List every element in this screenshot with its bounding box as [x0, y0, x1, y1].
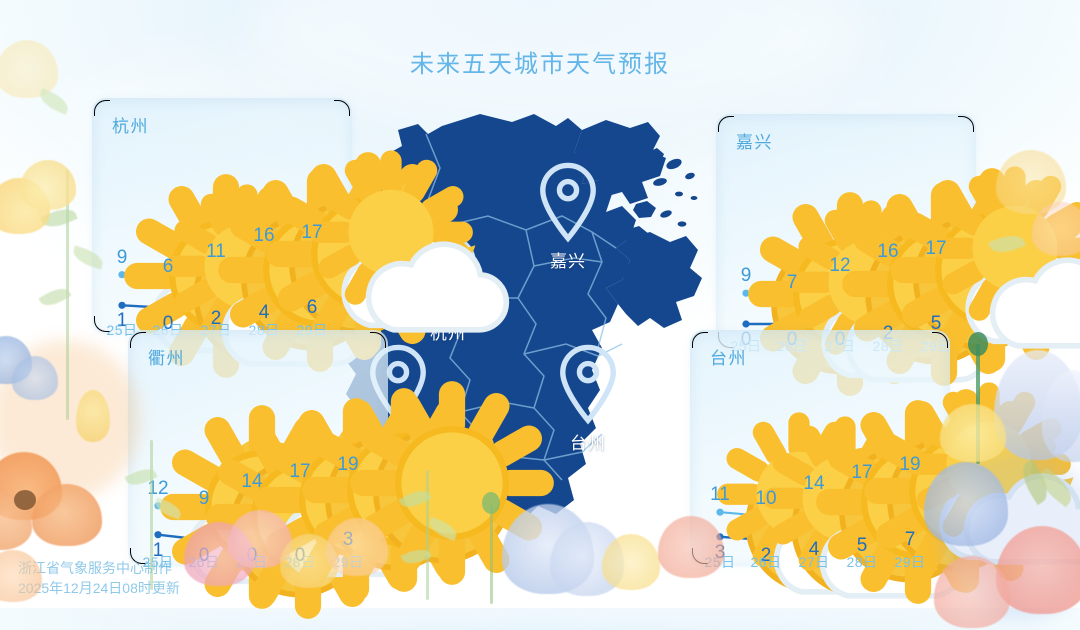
- forecast-panel-台州: 台州 11325日 10226日 14427日: [690, 330, 950, 566]
- panel-corner-accent: [958, 116, 974, 132]
- panel-corner-accent: [334, 100, 350, 116]
- high-temp-value: 19: [884, 454, 936, 476]
- high-temp-value: 12: [132, 478, 184, 500]
- temperature-chart-衢州: 12125日 9026日 14027日 17028日: [128, 364, 388, 564]
- panel-corner-accent: [932, 332, 948, 348]
- high-temp-value: 17: [910, 238, 962, 260]
- high-temp-value: 12: [814, 255, 866, 277]
- high-temp-value: 9: [720, 265, 772, 287]
- forecast-panel-嘉兴: 嘉兴 9025日 7026日 12027日: [716, 114, 976, 350]
- temperature-chart-台州: 11325日 10226日 14427日 17528日: [690, 364, 950, 564]
- high-temp-value: 16: [238, 225, 290, 247]
- panel-corner-accent: [370, 332, 386, 348]
- panel-corner-accent: [718, 116, 734, 132]
- high-temp-value: 17: [274, 461, 326, 483]
- panel-corner-accent: [130, 332, 146, 348]
- high-temp-value: 11: [190, 241, 242, 263]
- date-label: 25日: [694, 552, 746, 572]
- high-temp-value: 14: [226, 471, 278, 493]
- date-label: 29日: [322, 552, 374, 572]
- date-label: 29日: [884, 552, 936, 572]
- credits-line-2: 2025年12月24日08时更新: [18, 578, 180, 598]
- high-temp-value: 7: [766, 272, 818, 294]
- panel-corner-accent: [692, 332, 708, 348]
- low-temp-value: 3: [322, 529, 374, 551]
- credits-line-1: 浙江省气象服务中心制作: [18, 558, 180, 578]
- page-title: 未来五天城市天气预报: [0, 44, 1080, 79]
- date-label: 26日: [740, 552, 792, 572]
- date-label: 26日: [178, 552, 230, 572]
- high-temp-value: 10: [740, 488, 792, 510]
- high-temp-value: 19: [322, 454, 374, 476]
- high-temp-value: 9: [178, 488, 230, 510]
- high-temp-value: 17: [836, 462, 888, 484]
- date-label: 28日: [274, 552, 326, 572]
- high-temp-value: 9: [96, 247, 148, 269]
- low-temp-value: 6: [286, 297, 338, 319]
- high-temp-value: 16: [862, 241, 914, 263]
- date-label: 27日: [226, 552, 278, 572]
- date-label: 27日: [788, 552, 840, 572]
- high-temp-value: 11: [694, 484, 746, 506]
- temperature-chart-嘉兴: 9025日 7026日 12027日 16228日: [716, 148, 976, 348]
- date-label: 28日: [836, 552, 888, 572]
- low-temp-value: 7: [884, 529, 936, 551]
- credits: 浙江省气象服务中心制作 2025年12月24日08时更新: [18, 558, 180, 598]
- high-temp-value: 6: [142, 256, 194, 278]
- panel-corner-accent: [94, 100, 110, 116]
- forecast-panel-杭州: 杭州 9125日 6026日 11227日: [92, 98, 352, 334]
- forecast-panel-衢州: 衢州 12125日 9026日 14027日: [128, 330, 388, 566]
- high-temp-value: 14: [788, 473, 840, 495]
- high-temp-value: 17: [286, 222, 338, 244]
- temperature-chart-杭州: 9125日 6026日 11227日 16428日: [92, 132, 352, 332]
